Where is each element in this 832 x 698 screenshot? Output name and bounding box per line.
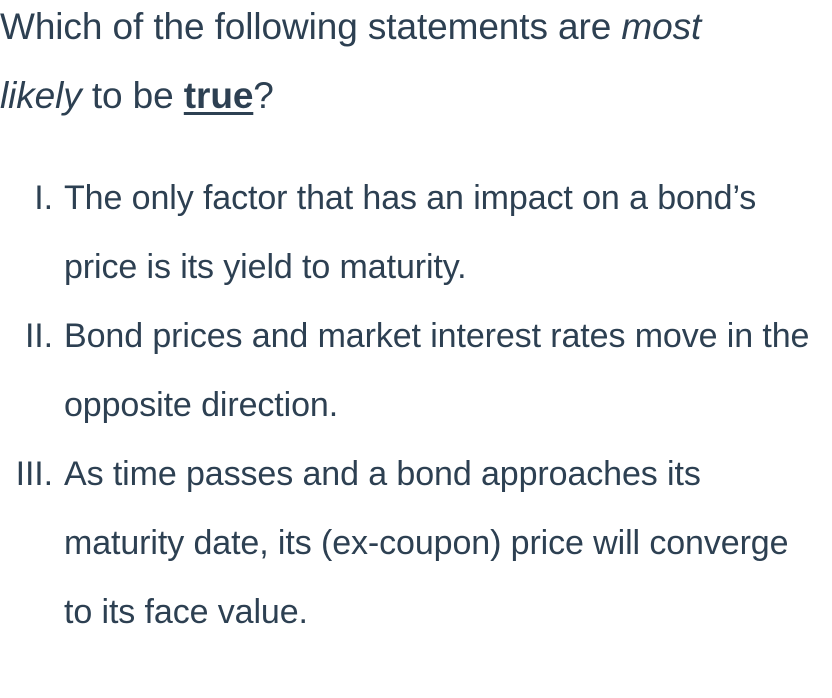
- statement-marker-ii: II.: [0, 302, 53, 371]
- statement-list: I. The only factor that has an impact on…: [0, 164, 832, 647]
- question-stem-suffix: ?: [253, 75, 273, 116]
- list-item: I. The only factor that has an impact on…: [0, 164, 832, 302]
- question-root: Which of the following statements are mo…: [0, 0, 832, 698]
- statement-text-iii: As time passes and a bond approaches its…: [64, 440, 832, 647]
- statement-marker-iii: III.: [0, 440, 53, 509]
- question-stem: Which of the following statements are mo…: [0, 0, 764, 130]
- question-stem-middle: to be: [82, 75, 184, 116]
- statement-text-ii: Bond prices and market interest rates mo…: [64, 302, 832, 440]
- list-item: III. As time passes and a bond approache…: [0, 440, 832, 647]
- question-stem-strong: true: [184, 75, 254, 116]
- question-stem-prefix: Which of the following statements are: [0, 6, 621, 47]
- list-item: II. Bond prices and market interest rate…: [0, 302, 832, 440]
- statement-text-i: The only factor that has an impact on a …: [64, 164, 832, 302]
- statement-marker-i: I.: [0, 164, 53, 233]
